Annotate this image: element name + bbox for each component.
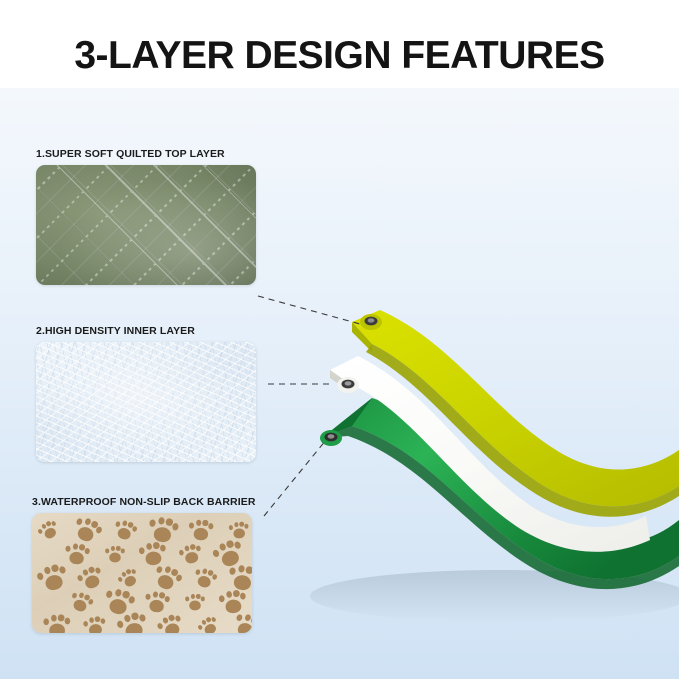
paw-print-icon	[81, 614, 108, 633]
quilted-olive-fabric-swatch	[36, 165, 256, 285]
callout-layer-3-label: 3.WATERPROOF NON-SLIP BACK BARRIER	[32, 496, 256, 508]
paw-print-icon	[187, 518, 214, 543]
paw-print-icon	[62, 541, 91, 569]
paw-print-icon	[110, 517, 139, 545]
paw-print-icon	[184, 593, 205, 613]
callout-layer-3: 3.WATERPROOF NON-SLIP BACK BARRIER	[32, 496, 256, 633]
infographic-page: 3-LAYER DESIGN FEATURES	[0, 0, 679, 679]
white-fibre-wadding-swatch	[36, 342, 256, 462]
fabric-sheen	[36, 165, 256, 285]
paw-print-icon	[142, 589, 171, 617]
paw-print-backing-swatch	[32, 513, 252, 633]
callout-layer-1: 1.SUPER SOFT QUILTED TOP LAYER	[36, 148, 256, 285]
paw-print-icon	[190, 565, 219, 593]
callout-layer-1-label: 1.SUPER SOFT QUILTED TOP LAYER	[36, 148, 256, 160]
paw-print-icon	[195, 613, 223, 633]
fibre-highlight	[36, 342, 256, 462]
paw-print-icon	[35, 517, 63, 545]
paw-print-icon	[177, 541, 206, 568]
callout-layer-2-label: 2.HIGH DENSITY INNER LAYER	[36, 325, 256, 337]
callout-layer-2: 2.HIGH DENSITY INNER LAYER	[36, 325, 256, 462]
paw-print-icon	[42, 613, 72, 633]
paw-print-icon	[104, 545, 125, 565]
